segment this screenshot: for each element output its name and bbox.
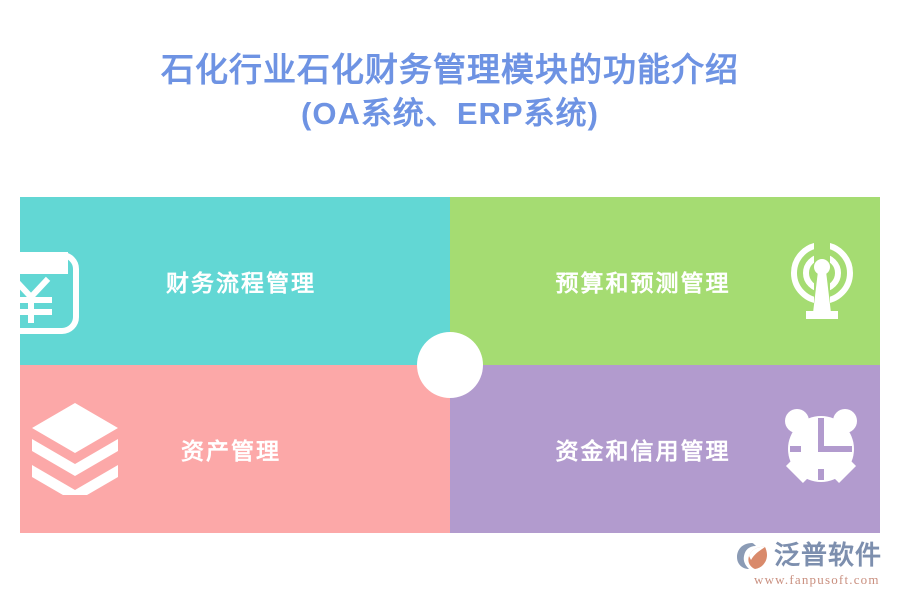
quadrant-funds-credit[interactable]: 资金和信用管理 [450,365,880,533]
quadrant-budget-forecast[interactable]: 预算和预测管理 [450,197,880,365]
quadrant-label-funds-credit: 资金和信用管理 [450,432,858,466]
quadrant-label-budget-forecast: 预算和预测管理 [450,264,858,298]
quadrant-asset-management[interactable]: 资产管理 [20,365,450,533]
brand-url: www.fanpusoft.com [754,572,880,588]
page-title-line-2: (OA系统、ERP系统) [0,92,900,136]
fanpu-logo-mark-icon [736,541,770,571]
brand-logo: 泛普软件 www.fanpusoft.com [736,541,882,588]
brand-name: 泛普软件 [774,542,882,570]
quadrant-financial-process[interactable]: 财务流程管理 [20,197,450,365]
page-title: 石化行业石化财务管理模块的功能介绍 (OA系统、ERP系统) [0,50,900,136]
quadrant-label-financial-process: 财务流程管理 [26,264,450,298]
quadrant-label-asset-management: 资产管理 [20,432,446,466]
page-title-line-1: 石化行业石化财务管理模块的功能介绍 [0,50,900,92]
quadrant-diagram: 财务流程管理 预算和预测管理 [20,197,880,533]
center-circle-marker [417,332,483,398]
